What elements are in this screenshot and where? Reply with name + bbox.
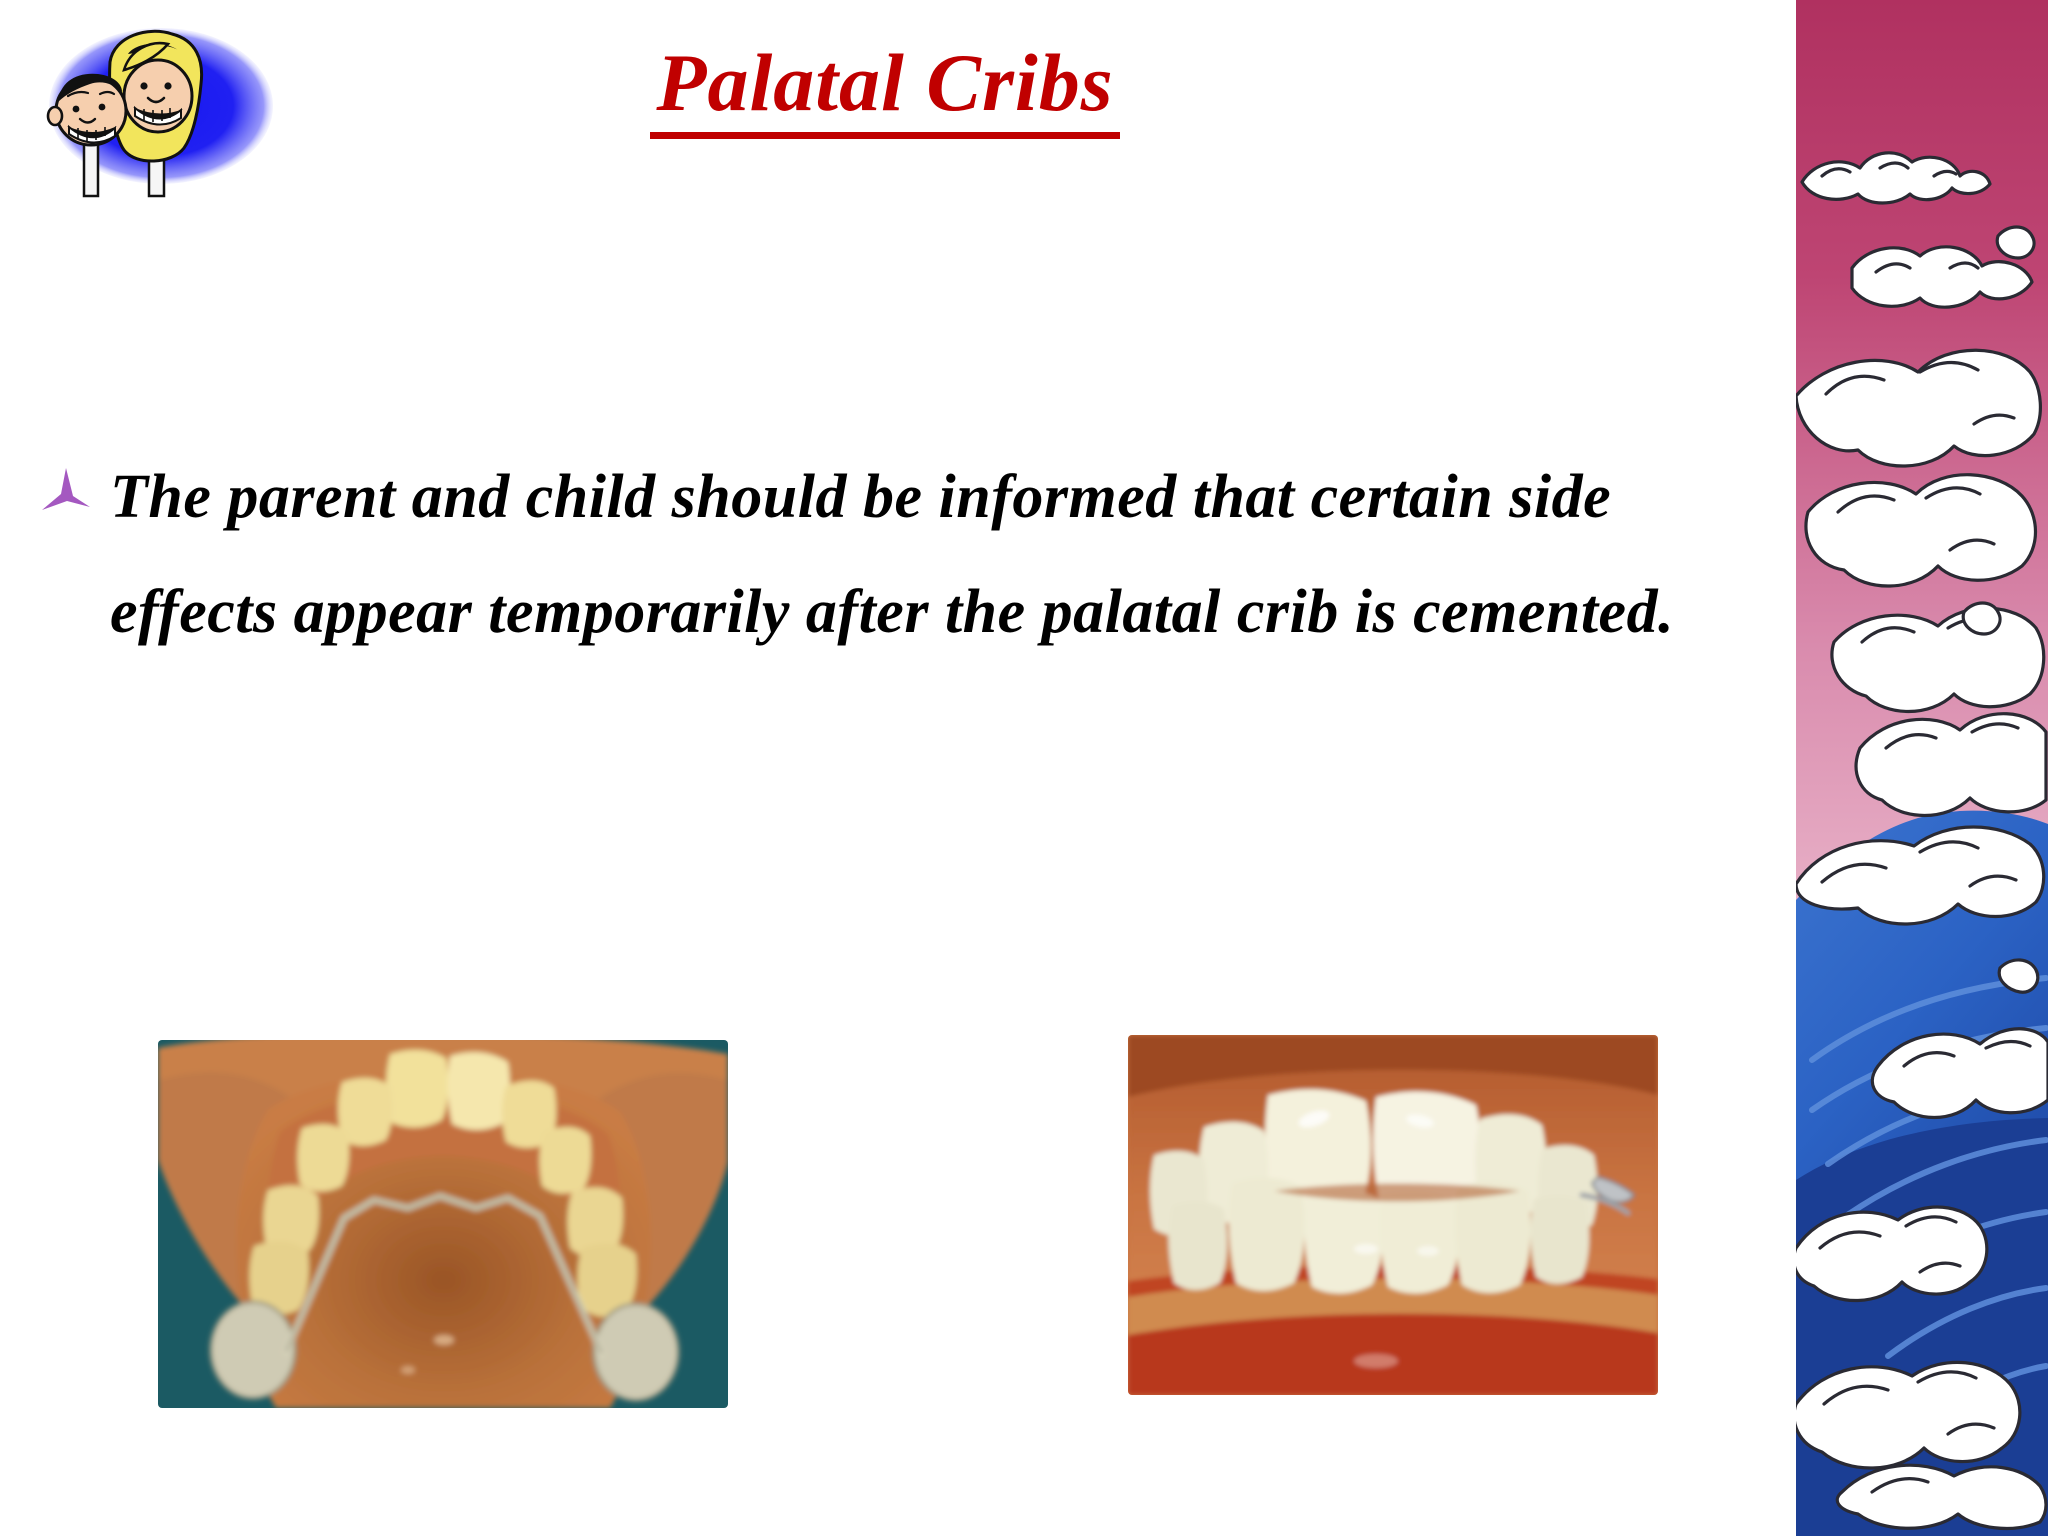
great-wave-border-decoration (1768, 0, 2048, 1536)
body-content: The parent and child should be informed … (40, 440, 1720, 669)
photo-occlusal-view-palatal-crib (158, 1040, 728, 1408)
bullet-list-item: The parent and child should be informed … (40, 440, 1720, 669)
slide-title-container: Palatal Cribs (0, 40, 1770, 139)
photo-frontal-view-anterior-open-bite (1128, 1035, 1658, 1395)
page-title: Palatal Cribs (650, 40, 1119, 139)
bullet-text: The parent and child should be informed … (110, 440, 1720, 669)
slide-canvas: Palatal Cribs The parent and child shoul… (0, 0, 2048, 1536)
three-point-star-bullet-icon (40, 466, 92, 518)
